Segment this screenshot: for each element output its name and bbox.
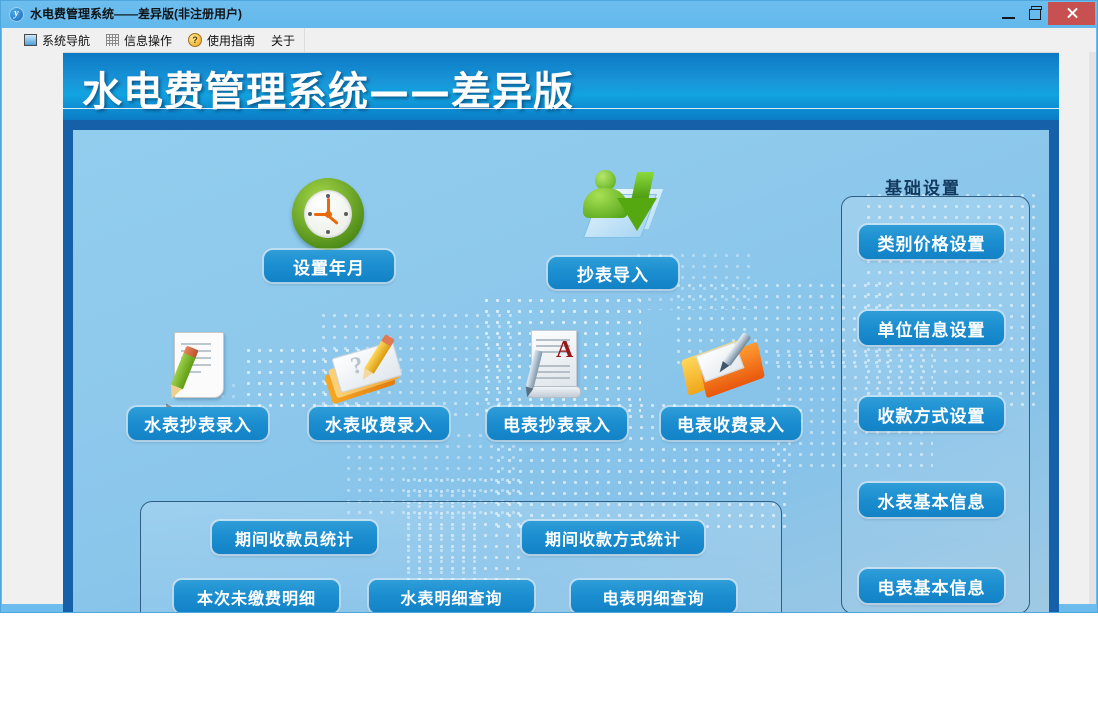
restore-button[interactable]: [1022, 3, 1048, 25]
button-label: 期间收款方式统计: [545, 526, 681, 550]
close-button[interactable]: [1048, 2, 1095, 25]
menu-item-about[interactable]: 关于: [262, 28, 305, 52]
period-payment-method-statistics-button[interactable]: 期间收款方式统计: [522, 521, 704, 554]
electric-meter-detail-query-button[interactable]: 电表明细查询: [571, 580, 736, 612]
help-circle-icon: [188, 33, 202, 47]
book-question-pencil-icon: ?: [325, 335, 411, 405]
button-label: 电表明细查询: [602, 585, 704, 609]
minimize-button[interactable]: [996, 3, 1022, 25]
left-gutter: [2, 52, 63, 612]
sidebar-item-category-price-settings[interactable]: 类别价格设置: [859, 225, 1004, 259]
button-label: 水表明细查询: [400, 585, 502, 609]
application-window: y 水电费管理系统——差异版(非注册用户) 系统导航 信息操作 使用指南 关于 …: [0, 0, 1098, 613]
sidebar-item-payment-method-settings[interactable]: 收款方式设置: [859, 397, 1004, 431]
close-icon: [1066, 7, 1078, 19]
grid-icon: [106, 34, 119, 46]
right-gutter: [1059, 52, 1089, 612]
person-download-icon: [565, 168, 665, 246]
scroll-letter-pen-icon: A: [521, 328, 587, 400]
navigation-icon: [24, 34, 37, 46]
menu-item-system-navigation[interactable]: 系统导航: [15, 28, 100, 52]
sidebar-item-electric-meter-basic-info[interactable]: 电表基本信息: [859, 569, 1004, 603]
menu-item-label: 关于: [271, 32, 295, 49]
header-banner: 水电费管理系统——差异版: [63, 53, 1059, 120]
sidebar-item-label: 水表基本信息: [878, 488, 986, 513]
unpaid-detail-button[interactable]: 本次未缴费明细: [174, 580, 339, 612]
sidebar-item-label: 单位信息设置: [878, 316, 986, 341]
water-meter-reading-entry-button[interactable]: 水表抄表录入: [128, 407, 268, 440]
clock-icon: [292, 178, 364, 250]
period-collector-statistics-button[interactable]: 期间收款员统计: [212, 521, 377, 554]
menu-bar: 系统导航 信息操作 使用指南 关于: [2, 28, 1096, 53]
main-content: 设置年月 抄表导入 水表抄表录入: [73, 130, 1049, 612]
electric-meter-reading-entry-button[interactable]: 电表抄表录入: [487, 407, 627, 440]
button-label: 水表收费录入: [325, 411, 433, 436]
electric-meter-charge-entry-button[interactable]: 电表收费录入: [661, 407, 801, 440]
app-logo-icon: y: [9, 7, 24, 22]
water-meter-charge-entry-button[interactable]: 水表收费录入: [309, 407, 449, 440]
set-year-month-button[interactable]: 设置年月: [264, 250, 394, 282]
water-meter-detail-query-button[interactable]: 水表明细查询: [369, 580, 534, 612]
menu-item-label: 使用指南: [207, 32, 255, 49]
note-pencil-icon: [166, 330, 232, 402]
title-bar: y 水电费管理系统——差异版(非注册用户): [1, 1, 1097, 28]
menu-item-info-operations[interactable]: 信息操作: [97, 28, 182, 52]
sidebar-item-unit-info-settings[interactable]: 单位信息设置: [859, 311, 1004, 345]
menu-item-label: 信息操作: [124, 32, 172, 49]
button-label: 水表抄表录入: [144, 411, 252, 436]
sidebar-item-water-meter-basic-info[interactable]: 水表基本信息: [859, 483, 1004, 517]
sidebar-item-label: 电表基本信息: [878, 574, 986, 599]
menu-item-user-guide[interactable]: 使用指南: [179, 28, 265, 52]
sidebar-item-label: 收款方式设置: [878, 402, 986, 427]
button-label: 期间收款员统计: [235, 526, 354, 550]
button-label: 设置年月: [293, 254, 365, 279]
right-edge: [1089, 52, 1096, 612]
window-title: 水电费管理系统——差异版(非注册用户): [30, 5, 242, 22]
button-label: 电表收费录入: [677, 411, 785, 436]
button-label: 抄表导入: [577, 261, 649, 286]
restore-icon: [1029, 9, 1041, 20]
sidebar-item-label: 类别价格设置: [878, 230, 986, 255]
button-label: 电表抄表录入: [503, 411, 611, 436]
content-frame: 设置年月 抄表导入 水表抄表录入: [63, 120, 1059, 612]
menu-item-label: 系统导航: [42, 32, 90, 49]
page-title: 水电费管理系统——差异版: [82, 59, 574, 117]
folder-pen-icon: [683, 334, 769, 402]
minimize-icon: [1002, 17, 1015, 19]
button-label: 本次未缴费明细: [197, 585, 316, 609]
meter-reading-import-button[interactable]: 抄表导入: [548, 257, 678, 289]
